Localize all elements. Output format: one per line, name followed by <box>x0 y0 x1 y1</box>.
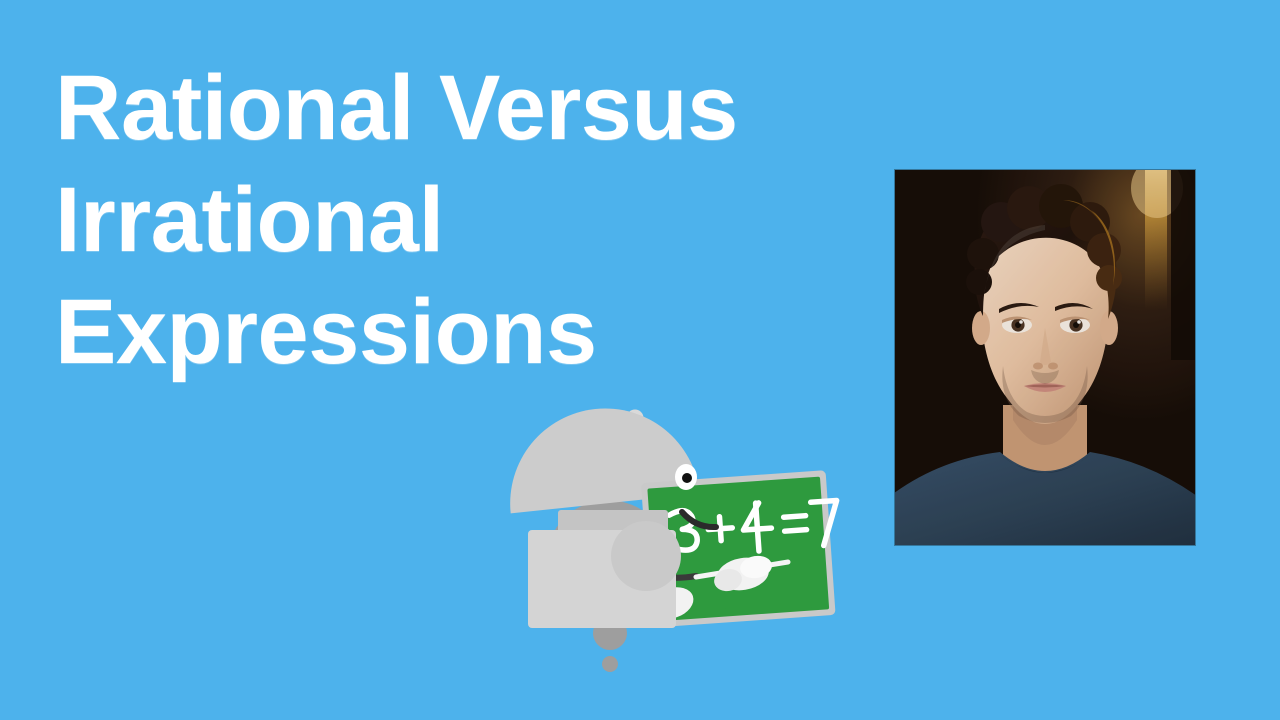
robot-illustration <box>500 352 860 707</box>
robot-shoulder-joint <box>611 521 681 591</box>
title-line-3: Expressions <box>55 276 845 388</box>
robot-pupil <box>682 473 692 483</box>
portrait-illustration <box>895 170 1195 545</box>
robot-teacher-mascot <box>500 352 860 707</box>
page-title: Rational Versus Irrational Expressions <box>55 52 845 388</box>
robot-stand-foot <box>602 656 618 672</box>
video-thumbnail-slide: Rational Versus Irrational Expressions <box>0 0 1280 720</box>
title-line-2: Irrational <box>55 164 845 276</box>
title-line-1: Rational Versus <box>55 52 845 164</box>
instructor-portrait-photo <box>895 170 1195 545</box>
